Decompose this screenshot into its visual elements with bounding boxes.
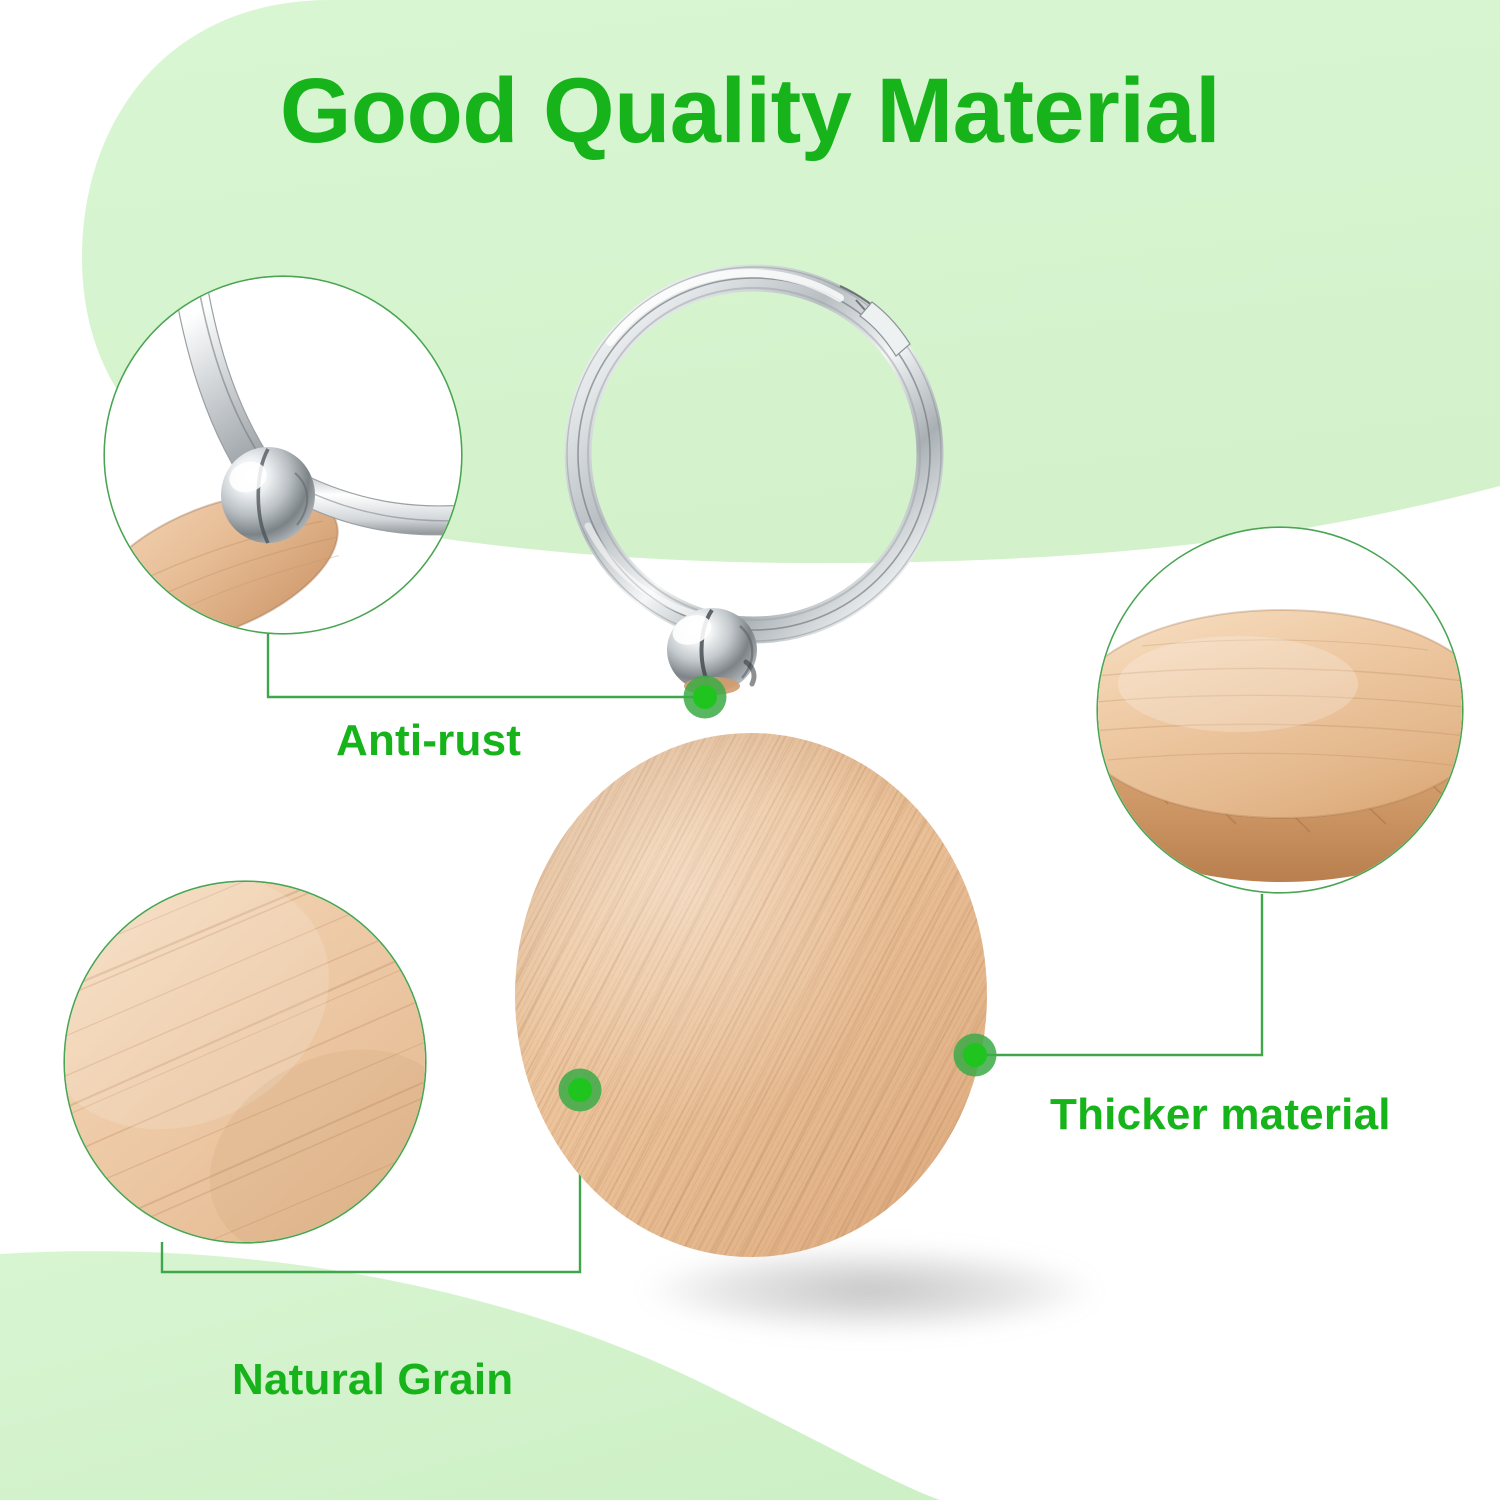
thicker-material-closeup-image [1098,528,1462,892]
detail-circle-thicker-material[interactable] [1098,528,1462,892]
marker-dot-thicker-material[interactable] [963,1043,987,1067]
marker-dot-natural-grain[interactable] [568,1078,592,1102]
metal-bead [221,447,315,543]
anti-rust-closeup-image [105,277,461,633]
ring-bead-connector [667,608,757,695]
feature-label-thicker-material: Thicker material [1050,1090,1391,1140]
split-key-ring[interactable] [540,258,970,728]
wooden-round-tag[interactable] [515,733,987,1257]
infographic-canvas: Good Quality Material [0,0,1500,1500]
detail-circle-anti-rust[interactable] [105,277,461,633]
feature-label-anti-rust: Anti-rust [336,716,521,766]
feature-label-natural-grain: Natural Grain [232,1355,513,1405]
tag-drop-shadow [560,1230,1180,1350]
natural-grain-closeup-image [65,882,425,1242]
marker-dot-anti-rust[interactable] [693,685,717,709]
connector-thicker-material [975,894,1262,1055]
tag-edge-shading [515,733,987,1257]
split-key-ring-graphic [540,258,970,728]
detail-circle-natural-grain[interactable] [65,882,425,1242]
